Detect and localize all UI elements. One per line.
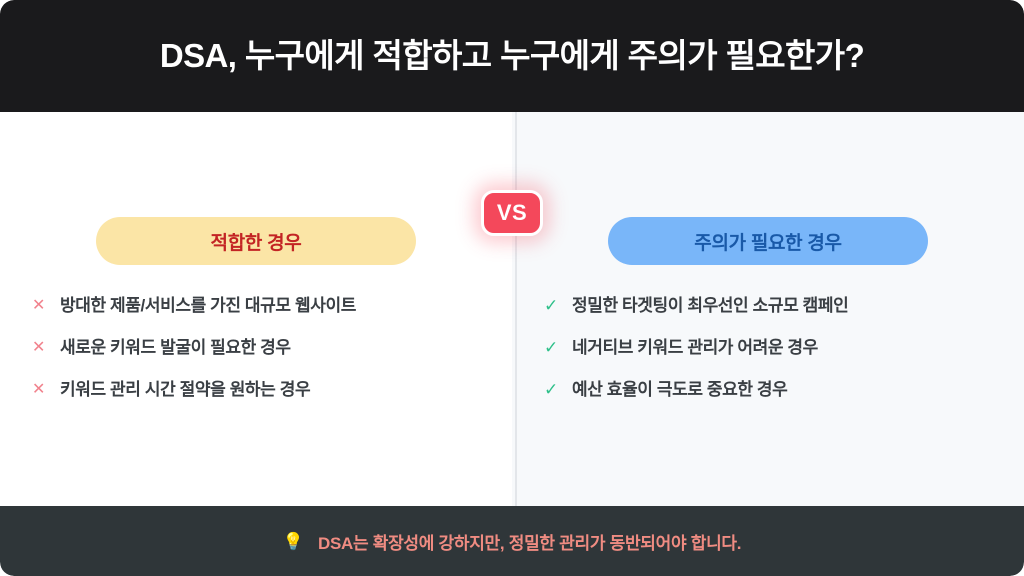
list-item-label: 새로운 키워드 발굴이 필요한 경우 xyxy=(60,336,291,360)
close-x-icon: ✕ xyxy=(32,378,60,402)
left-list: ✕ 방대한 제품/서비스를 가진 대규모 웹사이트 ✕ 새로운 키워드 발굴이 … xyxy=(0,294,512,420)
comparison-slide: DSA, 누구에게 적합하고 누구에게 주의가 필요한가? 적합한 경우 ✕ 방… xyxy=(0,0,1024,576)
lightbulb-icon: 💡 xyxy=(283,533,304,550)
check-icon: ✓ xyxy=(544,294,572,318)
close-x-icon: ✕ xyxy=(32,294,60,318)
list-item-label: 방대한 제품/서비스를 가진 대규모 웹사이트 xyxy=(60,294,356,318)
list-item: ✕ 새로운 키워드 발굴이 필요한 경우 xyxy=(32,336,512,378)
slide-footer: 💡 DSA는 확장성에 강하지만, 정밀한 관리가 동반되어야 합니다. xyxy=(0,506,1024,576)
left-panel: 적합한 경우 ✕ 방대한 제품/서비스를 가진 대규모 웹사이트 ✕ 새로운 키… xyxy=(0,112,512,506)
footer-note: DSA는 확장성에 강하지만, 정밀한 관리가 동반되어야 합니다. xyxy=(318,529,741,554)
close-x-icon: ✕ xyxy=(32,336,60,360)
column-divider xyxy=(515,112,517,506)
vs-badge: VS xyxy=(481,190,543,236)
check-icon: ✓ xyxy=(544,378,572,402)
list-item: ✕ 방대한 제품/서비스를 가진 대규모 웹사이트 xyxy=(32,294,512,336)
badge-fit: 적합한 경우 xyxy=(96,217,416,265)
list-item: ✓ 정밀한 타겟팅이 최우선인 소규모 캠페인 xyxy=(544,294,1024,336)
list-item: ✓ 네거티브 키워드 관리가 어려운 경우 xyxy=(544,336,1024,378)
slide-header: DSA, 누구에게 적합하고 누구에게 주의가 필요한가? xyxy=(0,0,1024,112)
list-item: ✓ 예산 효율이 극도로 중요한 경우 xyxy=(544,378,1024,420)
check-icon: ✓ xyxy=(544,336,572,360)
list-item: ✕ 키워드 관리 시간 절약을 원하는 경우 xyxy=(32,378,512,420)
list-item-label: 예산 효율이 극도로 중요한 경우 xyxy=(572,378,787,402)
page-title: DSA, 누구에게 적합하고 누구에게 주의가 필요한가? xyxy=(160,36,864,76)
right-list: ✓ 정밀한 타겟팅이 최우선인 소규모 캠페인 ✓ 네거티브 키워드 관리가 어… xyxy=(512,294,1024,420)
right-panel: 주의가 필요한 경우 ✓ 정밀한 타겟팅이 최우선인 소규모 캠페인 ✓ 네거티… xyxy=(512,112,1024,506)
list-item-label: 정밀한 타겟팅이 최우선인 소규모 캠페인 xyxy=(572,294,848,318)
badge-caution: 주의가 필요한 경우 xyxy=(608,217,928,265)
right-badge-row: 주의가 필요한 경우 xyxy=(512,217,1024,265)
list-item-label: 네거티브 키워드 관리가 어려운 경우 xyxy=(572,336,818,360)
comparison-body: 적합한 경우 ✕ 방대한 제품/서비스를 가진 대규모 웹사이트 ✕ 새로운 키… xyxy=(0,112,1024,506)
left-badge-row: 적합한 경우 xyxy=(0,217,512,265)
list-item-label: 키워드 관리 시간 절약을 원하는 경우 xyxy=(60,378,310,402)
